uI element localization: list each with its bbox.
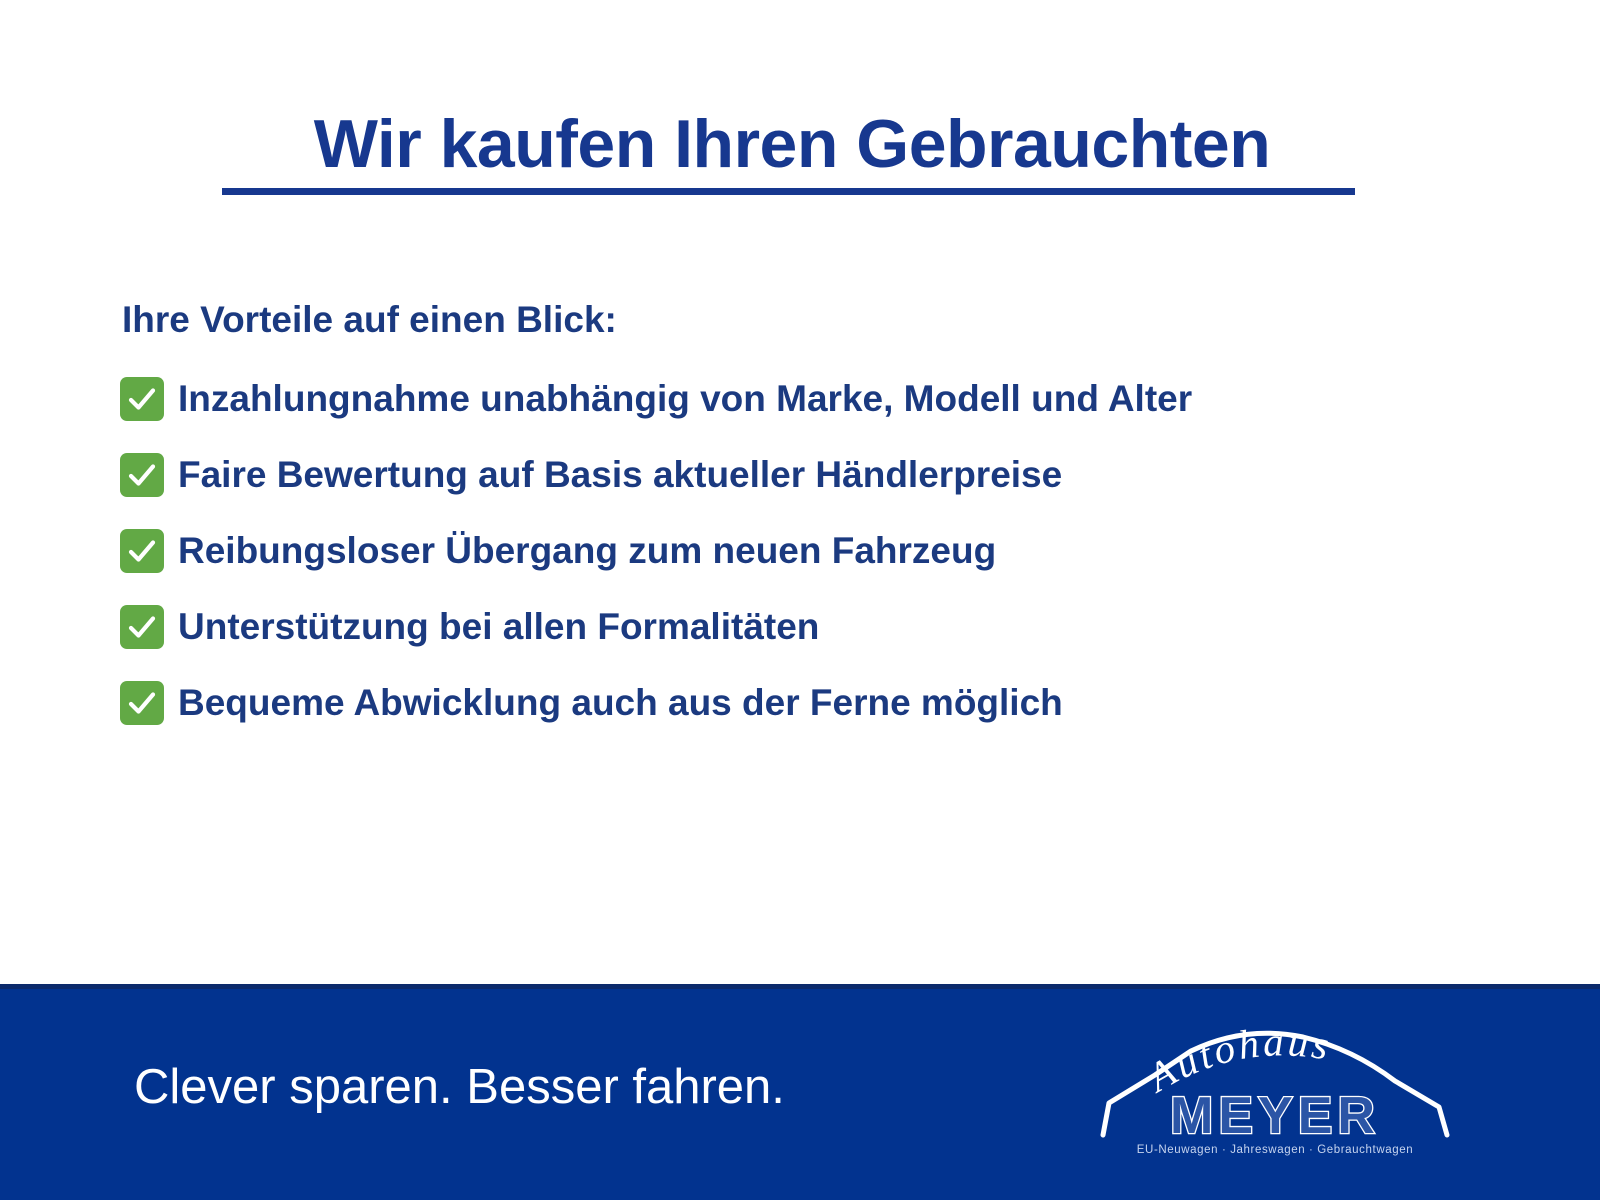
check-icon (120, 529, 164, 573)
check-icon (120, 377, 164, 421)
logo-tagline: EU-Neuwagen · Jahreswagen · Gebrauchtwag… (1137, 1144, 1413, 1156)
dealer-logo: Autohaus MEYER EU-Neuwagen · Jahreswagen… (1095, 1007, 1455, 1167)
check-icon (120, 453, 164, 497)
list-item-label: Bequeme Abwicklung auch aus der Ferne mö… (178, 682, 1063, 725)
footer-bar: Clever sparen. Besser fahren. Autohaus M… (0, 984, 1600, 1200)
logo-block-name: MEYER (1170, 1087, 1380, 1145)
benefits-list: Inzahlungnahme unabhängig von Marke, Mod… (120, 370, 1520, 732)
benefits-section: Ihre Vorteile auf einen Blick: Inzahlung… (120, 298, 1520, 750)
list-item: Inzahlungnahme unabhängig von Marke, Mod… (120, 370, 1520, 428)
list-item-label: Unterstützung bei allen Formalitäten (178, 606, 819, 649)
list-item-label: Faire Bewertung auf Basis aktueller Händ… (178, 454, 1062, 497)
list-item: Faire Bewertung auf Basis aktueller Händ… (120, 446, 1520, 504)
list-item: Bequeme Abwicklung auch aus der Ferne mö… (120, 674, 1520, 732)
list-item-label: Inzahlungnahme unabhängig von Marke, Mod… (178, 378, 1192, 421)
headline-underline (222, 188, 1355, 195)
promo-poster: Wir kaufen Ihren Gebrauchten Ihre Vortei… (0, 0, 1600, 1200)
page-title: Wir kaufen Ihren Gebrauchten (222, 108, 1362, 180)
footer-slogan: Clever sparen. Besser fahren. (134, 1061, 785, 1115)
list-item: Reibungsloser Übergang zum neuen Fahrzeu… (120, 522, 1520, 580)
list-item-label: Reibungsloser Übergang zum neuen Fahrzeu… (178, 530, 996, 573)
check-icon (120, 605, 164, 649)
check-icon (120, 681, 164, 725)
list-item: Unterstützung bei allen Formalitäten (120, 598, 1520, 656)
headline-block: Wir kaufen Ihren Gebrauchten (222, 108, 1362, 195)
benefits-heading: Ihre Vorteile auf einen Blick: (122, 298, 1520, 342)
